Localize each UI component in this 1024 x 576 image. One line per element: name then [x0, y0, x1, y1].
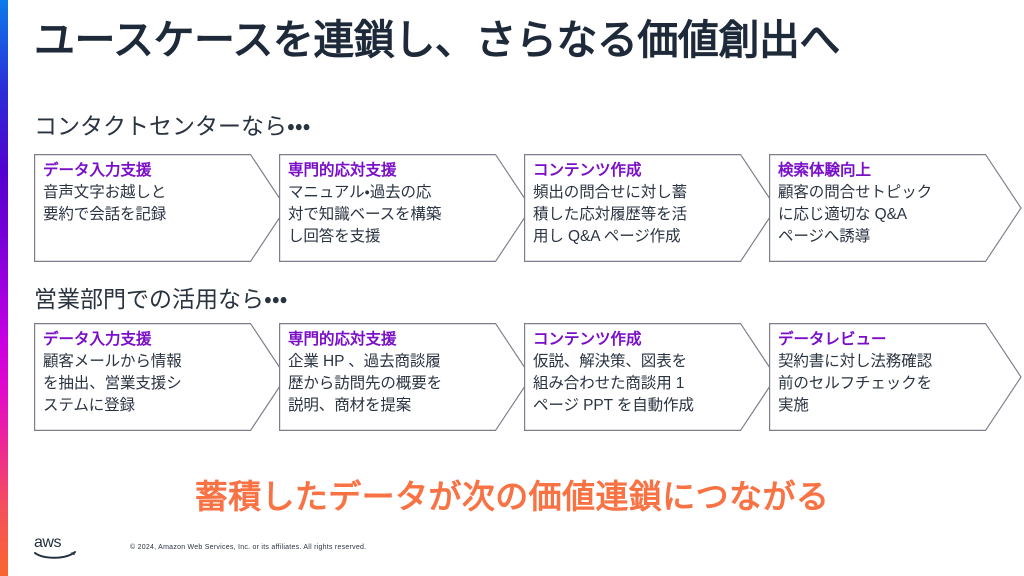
chevron-heading: 専門的応対支援 [288, 161, 485, 181]
chevron-text-line: 説明、商材を提案 [288, 395, 485, 417]
chevron-heading: コンテンツ作成 [533, 330, 730, 350]
chevron-content: コンテンツ作成 仮説、解決策、図表を 組み合わせた商談用 1 ページ PPT を… [524, 323, 736, 431]
chevron-heading: データレビュー [778, 330, 975, 350]
chevron-text-line: 組み合わせた商談用 1 [533, 373, 730, 395]
chevron-text-line: に応じ適切な Q&A [778, 204, 975, 226]
chevron-text: 契約書に対し法務確認 前のセルフチェックを 実施 [778, 351, 975, 418]
chevron-content: データ入力支援 顧客メールから情報 を抽出、営業支援シ ステムに登録 [34, 323, 246, 431]
copyright-text: © 2024, Amazon Web Services, Inc. or its… [130, 544, 366, 551]
chevron-content: 専門的応対支援 企業 HP 、過去商談履 歴から訪問先の概要を 説明、商材を提案 [279, 323, 491, 431]
page-title: ユースケースを連鎖し、さらなる価値創出へ [34, 16, 994, 64]
chevron-text: 音声文字お越しと 要約で会話を記録 [43, 182, 240, 227]
chevron-text-line: 要約で会話を記録 [43, 204, 240, 226]
chevron-text-line: ページ PPT を自動作成 [533, 395, 730, 417]
chevron-text-line: を抽出、営業支援シ [43, 373, 240, 395]
aws-logo: aws [34, 532, 80, 562]
chevron-text-line: 契約書に対し法務確認 [778, 351, 975, 373]
punchline-text: 蓄積したデータが次の価値連鎖につながる [0, 470, 1024, 518]
section-label-contact-center: コンタクトセンターなら・・・ [34, 113, 310, 141]
chevron-text: 顧客の問合せトピック に応じ適切な Q&A ページへ誘導 [778, 182, 975, 249]
chevron-content: 検索体験向上 顧客の問合せトピック に応じ適切な Q&A ページへ誘導 [769, 154, 981, 262]
chevron-step-4[interactable]: データレビュー 契約書に対し法務確認 前のセルフチェックを 実施 [769, 323, 1022, 431]
chevron-content: 専門的応対支援 マニュアル・過去の応 対で知識ベースを構築 し回答を支援 [279, 154, 491, 262]
chevron-step-1[interactable]: データ入力支援 音声文字お越しと 要約で会話を記録 [34, 154, 287, 262]
chevron-step-3[interactable]: コンテンツ作成 頻出の問合せに対し蓄 積した応対履歴等を活 用し Q&A ページ… [524, 154, 777, 262]
chevron-text-line: し回答を支援 [288, 226, 485, 248]
chevron-heading: 検索体験向上 [778, 161, 975, 181]
chevron-content: データ入力支援 音声文字お越しと 要約で会話を記録 [34, 154, 246, 262]
chevron-text-line: 企業 HP 、過去商談履 [288, 351, 485, 373]
svg-text:aws: aws [34, 534, 61, 551]
section-label-sales-department: 営業部門での活用なら・・・ [34, 286, 287, 314]
chevron-step-1[interactable]: データ入力支援 顧客メールから情報 を抽出、営業支援シ ステムに登録 [34, 323, 287, 431]
chevron-step-3[interactable]: コンテンツ作成 仮説、解決策、図表を 組み合わせた商談用 1 ページ PPT を… [524, 323, 777, 431]
chevron-step-2[interactable]: 専門的応対支援 企業 HP 、過去商談履 歴から訪問先の概要を 説明、商材を提案 [279, 323, 532, 431]
chevron-row-contact-center: データ入力支援 音声文字お越しと 要約で会話を記録 専門的応対支援 マニュアル・… [34, 154, 1000, 262]
chevron-text-line: 対で知識ベースを構築 [288, 204, 485, 226]
chevron-heading: 専門的応対支援 [288, 330, 485, 350]
chevron-text: 顧客メールから情報 を抽出、営業支援シ ステムに登録 [43, 351, 240, 418]
chevron-text-line: 前のセルフチェックを [778, 373, 975, 395]
chevron-heading: データ入力支援 [43, 161, 240, 181]
chevron-text-line: 積した応対履歴等を活 [533, 204, 730, 226]
chevron-content: データレビュー 契約書に対し法務確認 前のセルフチェックを 実施 [769, 323, 981, 431]
chevron-text: 仮説、解決策、図表を 組み合わせた商談用 1 ページ PPT を自動作成 [533, 351, 730, 418]
chevron-content: コンテンツ作成 頻出の問合せに対し蓄 積した応対履歴等を活 用し Q&A ページ… [524, 154, 736, 262]
chevron-row-sales-department: データ入力支援 顧客メールから情報 を抽出、営業支援シ ステムに登録 専門的応対… [34, 323, 1000, 431]
chevron-step-4[interactable]: 検索体験向上 顧客の問合せトピック に応じ適切な Q&A ページへ誘導 [769, 154, 1022, 262]
chevron-text-line: 顧客の問合せトピック [778, 182, 975, 204]
chevron-text-line: 歴から訪問先の概要を [288, 373, 485, 395]
chevron-text-line: 仮説、解決策、図表を [533, 351, 730, 373]
chevron-text: 企業 HP 、過去商談履 歴から訪問先の概要を 説明、商材を提案 [288, 351, 485, 418]
chevron-text: 頻出の問合せに対し蓄 積した応対履歴等を活 用し Q&A ページ作成 [533, 182, 730, 249]
chevron-text-line: 用し Q&A ページ作成 [533, 226, 730, 248]
chevron-step-2[interactable]: 専門的応対支援 マニュアル・過去の応 対で知識ベースを構築 し回答を支援 [279, 154, 532, 262]
chevron-heading: コンテンツ作成 [533, 161, 730, 181]
chevron-text-line: ステムに登録 [43, 395, 240, 417]
chevron-text-line: マニュアル・過去の応 [288, 182, 485, 204]
chevron-text-line: 実施 [778, 395, 975, 417]
slide-footer: aws © 2024, Amazon Web Services, Inc. or… [34, 530, 994, 564]
chevron-text-line: ページへ誘導 [778, 226, 975, 248]
chevron-text-line: 音声文字お越しと [43, 182, 240, 204]
chevron-heading: データ入力支援 [43, 330, 240, 350]
chevron-text-line: 頻出の問合せに対し蓄 [533, 182, 730, 204]
chevron-text: マニュアル・過去の応 対で知識ベースを構築 し回答を支援 [288, 182, 485, 249]
chevron-text-line: 顧客メールから情報 [43, 351, 240, 373]
